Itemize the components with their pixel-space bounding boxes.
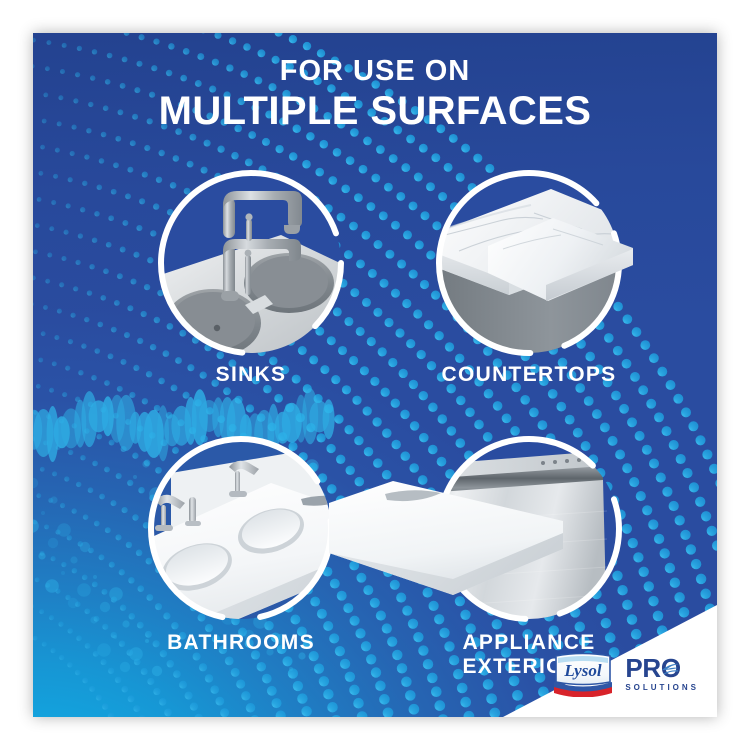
headline-line-2: MULTIPLE SURFACES xyxy=(33,91,717,131)
headline-line-1: FOR USE ON xyxy=(33,57,717,86)
feature-tile-appliances: APPLIANCE EXTERIORS xyxy=(439,439,619,619)
poster-canvas: FOR USE ON MULTIPLE SURFACES xyxy=(0,0,750,750)
appliances-image-ring xyxy=(439,439,619,619)
svg-text:Lysol: Lysol xyxy=(564,661,602,680)
sinks-image-ring xyxy=(161,173,341,353)
countertops-image-ring xyxy=(439,173,619,353)
solutions-wordmark: SOLUTIONS xyxy=(625,683,699,692)
pro-solutions-lockup: PRO SOLUTIONS xyxy=(625,656,699,692)
countertops-photo xyxy=(439,173,619,353)
tile-label-bathrooms: BATHROOMS xyxy=(167,631,315,655)
product-feature-poster: FOR USE ON MULTIPLE SURFACES xyxy=(33,33,717,717)
lysol-shield-icon: Lysol xyxy=(552,651,614,697)
appliances-photo xyxy=(439,439,619,619)
brand-logo: Lysol PRO SOLUTIONS xyxy=(552,651,699,697)
bathrooms-photo xyxy=(151,439,331,619)
sinks-photo xyxy=(161,173,341,353)
tile-label-sinks: SINKS xyxy=(216,363,287,387)
bathrooms-image-ring xyxy=(151,439,331,619)
feature-tile-bathrooms: BATHROOMS xyxy=(151,439,331,619)
feature-tile-sinks: SINKS xyxy=(161,173,341,353)
page-title: FOR USE ON MULTIPLE SURFACES xyxy=(33,57,717,131)
feature-tile-countertops: COUNTERTOPS xyxy=(439,173,619,353)
tile-label-countertops: COUNTERTOPS xyxy=(442,363,617,387)
